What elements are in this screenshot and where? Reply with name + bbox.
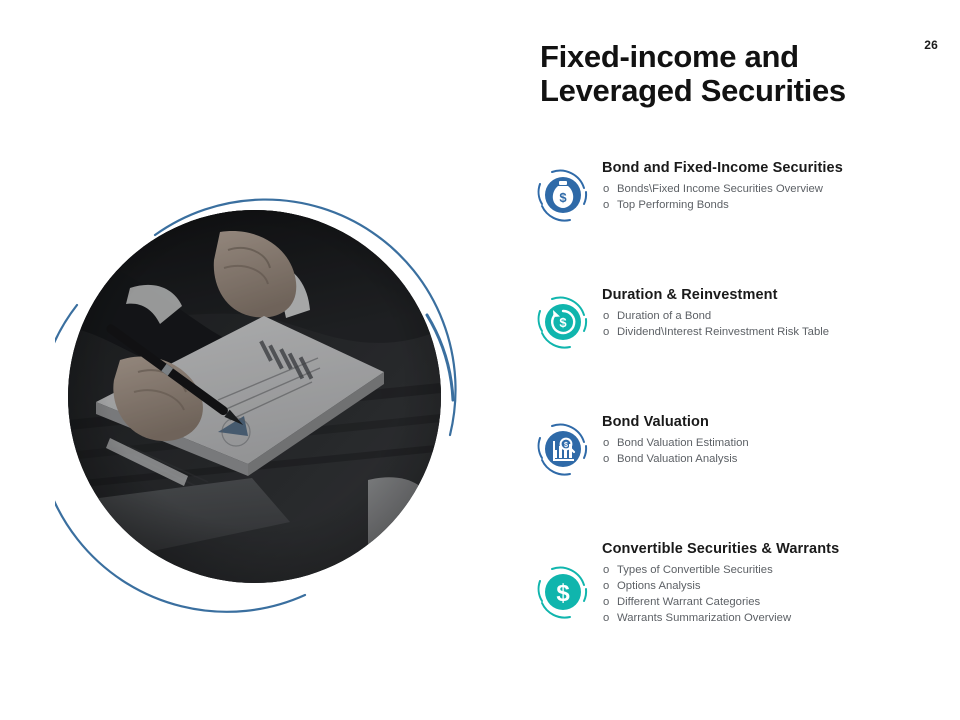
bullet-icon: o — [603, 610, 609, 626]
list-item-label: Top Performing Bonds — [617, 199, 729, 211]
section-bond-and-fixed-income-securities: $ Bond and Fixed-Income Securities oBond… — [534, 160, 954, 224]
section-bond-valuation: $ Bond Valuation oBond Valuation Estimat… — [534, 414, 954, 478]
bullet-icon: o — [603, 308, 609, 324]
section-title: Duration & Reinvestment — [602, 287, 954, 303]
list-item-label: Different Warrant Categories — [617, 596, 760, 608]
section-bullet-list: oTypes of Convertible Securities oOption… — [602, 562, 954, 626]
photo-image — [68, 210, 441, 583]
list-item-label: Bond Valuation Analysis — [617, 453, 737, 465]
section-duration-and-reinvestment: $ Duration & Reinvestment oDuration of a… — [534, 287, 954, 351]
photo-composition — [55, 175, 495, 620]
bar-chart-magnifier-icon: $ — [534, 420, 592, 478]
money-bag-dollar-icon: $ — [534, 166, 592, 224]
bullet-icon: o — [603, 197, 609, 213]
dollar-reinvestment-cycle-icon: $ — [534, 293, 592, 351]
list-item: oDuration of a Bond — [602, 308, 954, 324]
list-item-label: Duration of a Bond — [617, 310, 711, 322]
list-item-label: Bonds\Fixed Income Securities Overview — [617, 183, 823, 195]
bullet-icon: o — [603, 594, 609, 610]
bullet-icon: o — [603, 562, 609, 578]
page-title-line-2: Leveraged Securities — [540, 74, 930, 108]
list-item: oBond Valuation Analysis — [602, 451, 954, 467]
list-item: oBonds\Fixed Income Securities Overview — [602, 181, 954, 197]
list-item: oWarrants Summarization Overview — [602, 610, 954, 626]
bullet-icon: o — [603, 451, 609, 467]
section-body: Bond Valuation oBond Valuation Estimatio… — [592, 414, 954, 467]
slide-canvas: 26 Fixed-income and Leveraged Securities — [0, 0, 960, 720]
dollar-sign-coin-icon: $ — [534, 563, 592, 621]
list-item: oDifferent Warrant Categories — [602, 594, 954, 610]
section-body: Convertible Securities & Warrants oTypes… — [592, 541, 954, 626]
list-item: oTop Performing Bonds — [602, 197, 954, 213]
content-sections: $ Bond and Fixed-Income Securities oBond… — [534, 160, 954, 626]
list-item-label: Dividend\Interest Reinvestment Risk Tabl… — [617, 326, 829, 338]
bullet-icon: o — [603, 435, 609, 451]
svg-text:$: $ — [564, 442, 568, 449]
list-item-label: Types of Convertible Securities — [617, 564, 773, 576]
bullet-icon: o — [603, 181, 609, 197]
section-title: Bond Valuation — [602, 414, 954, 430]
list-item: oTypes of Convertible Securities — [602, 562, 954, 578]
list-item: oBond Valuation Estimation — [602, 435, 954, 451]
section-bullet-list: oBonds\Fixed Income Securities Overview … — [602, 181, 954, 213]
section-title: Bond and Fixed-Income Securities — [602, 160, 954, 176]
svg-text:$: $ — [556, 580, 570, 607]
section-body: Bond and Fixed-Income Securities oBonds\… — [592, 160, 954, 213]
bullet-icon: o — [603, 578, 609, 594]
page-title: Fixed-income and Leveraged Securities — [540, 40, 930, 108]
bullet-icon: o — [603, 324, 609, 340]
list-item-label: Options Analysis — [617, 580, 701, 592]
section-convertible-securities-and-warrants: $ Convertible Securities & Warrants oTyp… — [534, 541, 954, 626]
list-item-label: Warrants Summarization Overview — [617, 612, 791, 624]
section-bullet-list: oDuration of a Bond oDividend\Interest R… — [602, 308, 954, 340]
list-item: oDividend\Interest Reinvestment Risk Tab… — [602, 324, 954, 340]
svg-text:$: $ — [559, 190, 567, 205]
svg-text:$: $ — [559, 315, 567, 330]
section-title: Convertible Securities & Warrants — [602, 541, 954, 557]
section-body: Duration & Reinvestment oDuration of a B… — [592, 287, 954, 340]
section-bullet-list: oBond Valuation Estimation oBond Valuati… — [602, 435, 954, 467]
list-item-label: Bond Valuation Estimation — [617, 437, 749, 449]
list-item: oOptions Analysis — [602, 578, 954, 594]
page-title-line-1: Fixed-income and — [540, 40, 930, 74]
